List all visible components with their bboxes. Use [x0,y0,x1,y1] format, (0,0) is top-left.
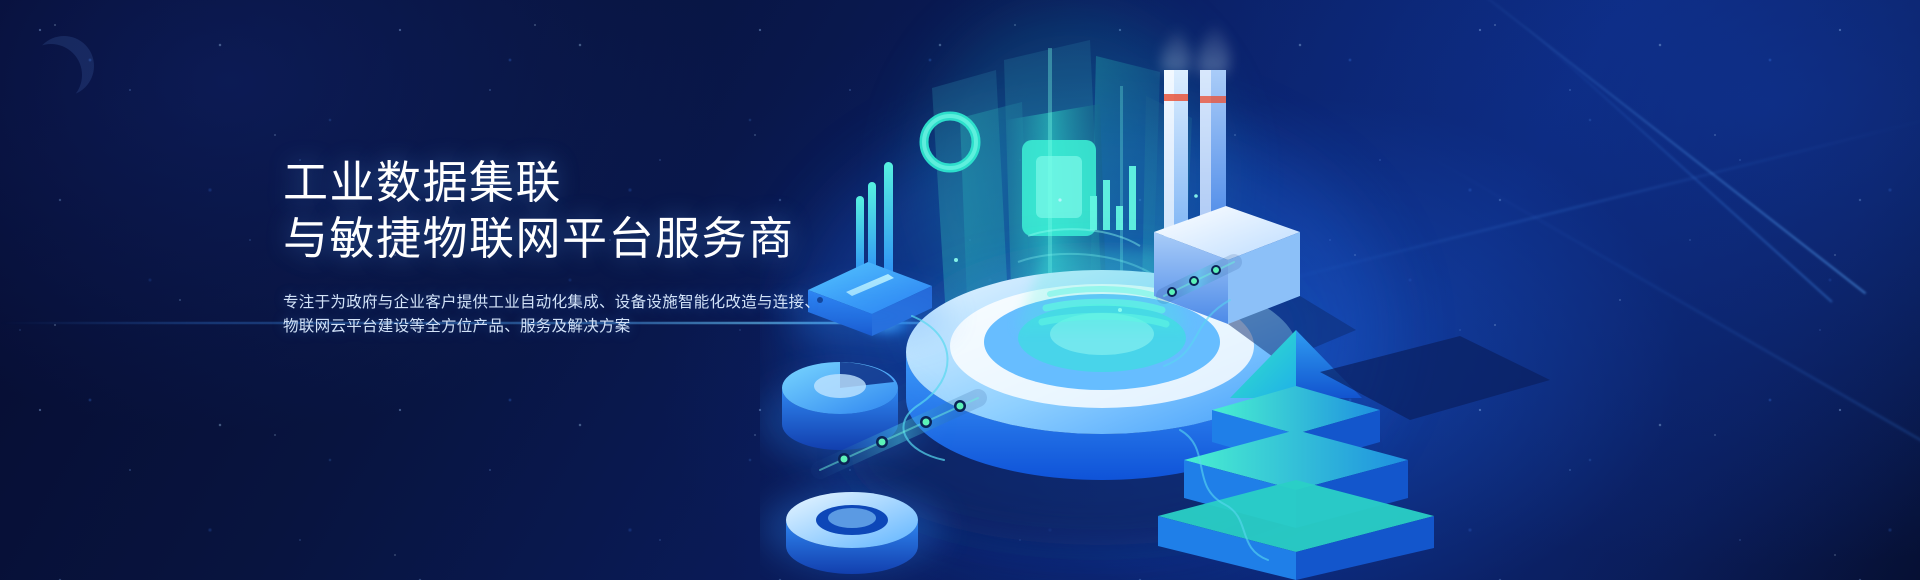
subtitle-line-1: 专注于为政府与企业客户提供工业自动化集成、设备设施智能化改造与连接、 [283,291,923,315]
hologram-screen-inner [1036,156,1082,218]
smoke-plume-right [1198,20,1230,74]
headline-line-2: 与敏捷物联网平台服务商 [283,211,923,267]
subtitle-line-2: 物联网云平台建设等全方位产品、服务及解决方案 [283,315,923,339]
headline-line-1: 工业数据集联 [283,155,923,211]
smoke-plume-left [1162,24,1191,72]
cylinder-inner [814,374,866,398]
subtitle-block: 专注于为政府与企业客户提供工业自动化集成、设备设施智能化改造与连接、 物联网云平… [283,291,923,339]
illustration-iot-scene [760,0,1920,580]
chimney-right-band [1200,96,1226,103]
chimney-left-band [1164,94,1188,101]
ring-platform [762,486,942,574]
hero-copy: 工业数据集联 与敏捷物联网平台服务商 专注于为政府与企业客户提供工业自动化集成、… [283,155,923,339]
ring-hole-inner [828,508,876,528]
crescent-moon-icon [34,36,94,96]
hero-banner: 工业数据集联 与敏捷物联网平台服务商 专注于为政府与企业客户提供工业自动化集成、… [0,0,1920,580]
chimney-right-highlight [1200,70,1211,230]
